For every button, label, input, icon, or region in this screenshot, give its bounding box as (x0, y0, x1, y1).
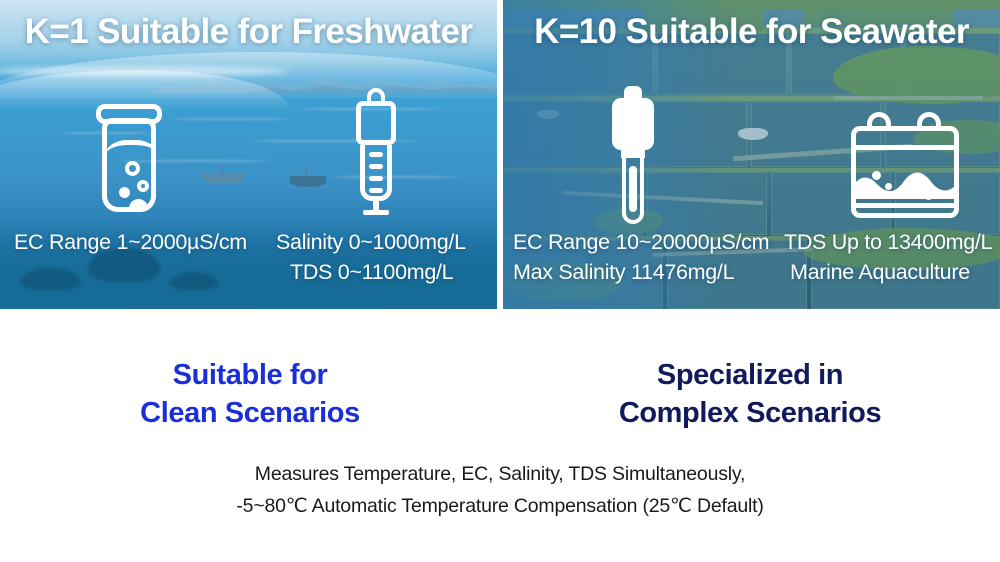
bubble (924, 191, 933, 200)
bubble (119, 187, 130, 198)
probe-fill (629, 166, 637, 212)
headline-clean-line1: Suitable for (0, 357, 500, 395)
tank-base-line (856, 203, 954, 208)
aquarium-tank-icon (851, 112, 959, 218)
probe-head (356, 101, 396, 145)
panel-seawater-title: K=10 Suitable for Seawater (503, 12, 1000, 52)
probe-foot (363, 210, 389, 215)
beaker-body (102, 118, 156, 212)
footnote: Measures Temperature, EC, Salinity, TDS … (0, 459, 1000, 522)
spec-max-salinity-seawater: Max Salinity 11476mg/L (513, 260, 734, 285)
water-ripple (170, 118, 290, 120)
spec-salinity-freshwater: Salinity 0~1000mg/L (276, 230, 466, 255)
headline-clean-scenarios: Suitable for Clean Scenarios (0, 357, 500, 433)
tank-waterline (856, 145, 954, 150)
water-foam (0, 66, 290, 76)
panel-seawater: K=10 Suitable for Seawater (503, 0, 1000, 309)
bubble (137, 180, 149, 192)
bubble (872, 171, 881, 180)
probe-head (612, 98, 654, 150)
bubble (885, 183, 892, 190)
probe-marking (369, 164, 383, 169)
hero-band: K=1 Suitable for Freshwater (0, 0, 1000, 309)
spec-ec-range-freshwater: EC Range 1~2000µS/cm (14, 230, 247, 255)
footnote-line1: Measures Temperature, EC, Salinity, TDS … (0, 459, 1000, 491)
probe-marking (369, 152, 383, 157)
headline-clean-line2: Clean Scenarios (0, 395, 500, 433)
lower-section: Suitable for Clean Scenarios Specialized… (0, 309, 1000, 562)
probe-solid-icon (605, 86, 661, 224)
probe-marking (369, 176, 383, 181)
beaker-icon (96, 104, 168, 216)
underwater-rock (170, 272, 218, 290)
headline-complex-line1: Specialized in (500, 357, 1000, 395)
bubble (129, 199, 148, 212)
footnote-line2: -5~80℃ Automatic Temperature Compensatio… (0, 491, 1000, 523)
spec-tds-freshwater: TDS 0~1100mg/L (290, 260, 453, 285)
headline-complex-scenarios: Specialized in Complex Scenarios (500, 357, 1000, 433)
spec-marine-aquaculture: Marine Aquaculture (790, 260, 970, 285)
spec-ec-range-seawater: EC Range 10~20000µS/cm (513, 230, 769, 255)
panel-freshwater: K=1 Suitable for Freshwater (0, 0, 497, 309)
bubble (914, 183, 921, 190)
panel-freshwater-title: K=1 Suitable for Freshwater (0, 12, 497, 52)
tank-sand (852, 165, 959, 199)
underwater-rock (20, 268, 80, 290)
probe-icon (348, 88, 404, 220)
bubble (125, 161, 140, 176)
bubble (868, 186, 874, 192)
headline-complex-line2: Complex Scenarios (500, 395, 1000, 433)
probe-marking (369, 188, 383, 193)
spec-tds-seawater: TDS Up to 13400mg/L (784, 230, 992, 255)
